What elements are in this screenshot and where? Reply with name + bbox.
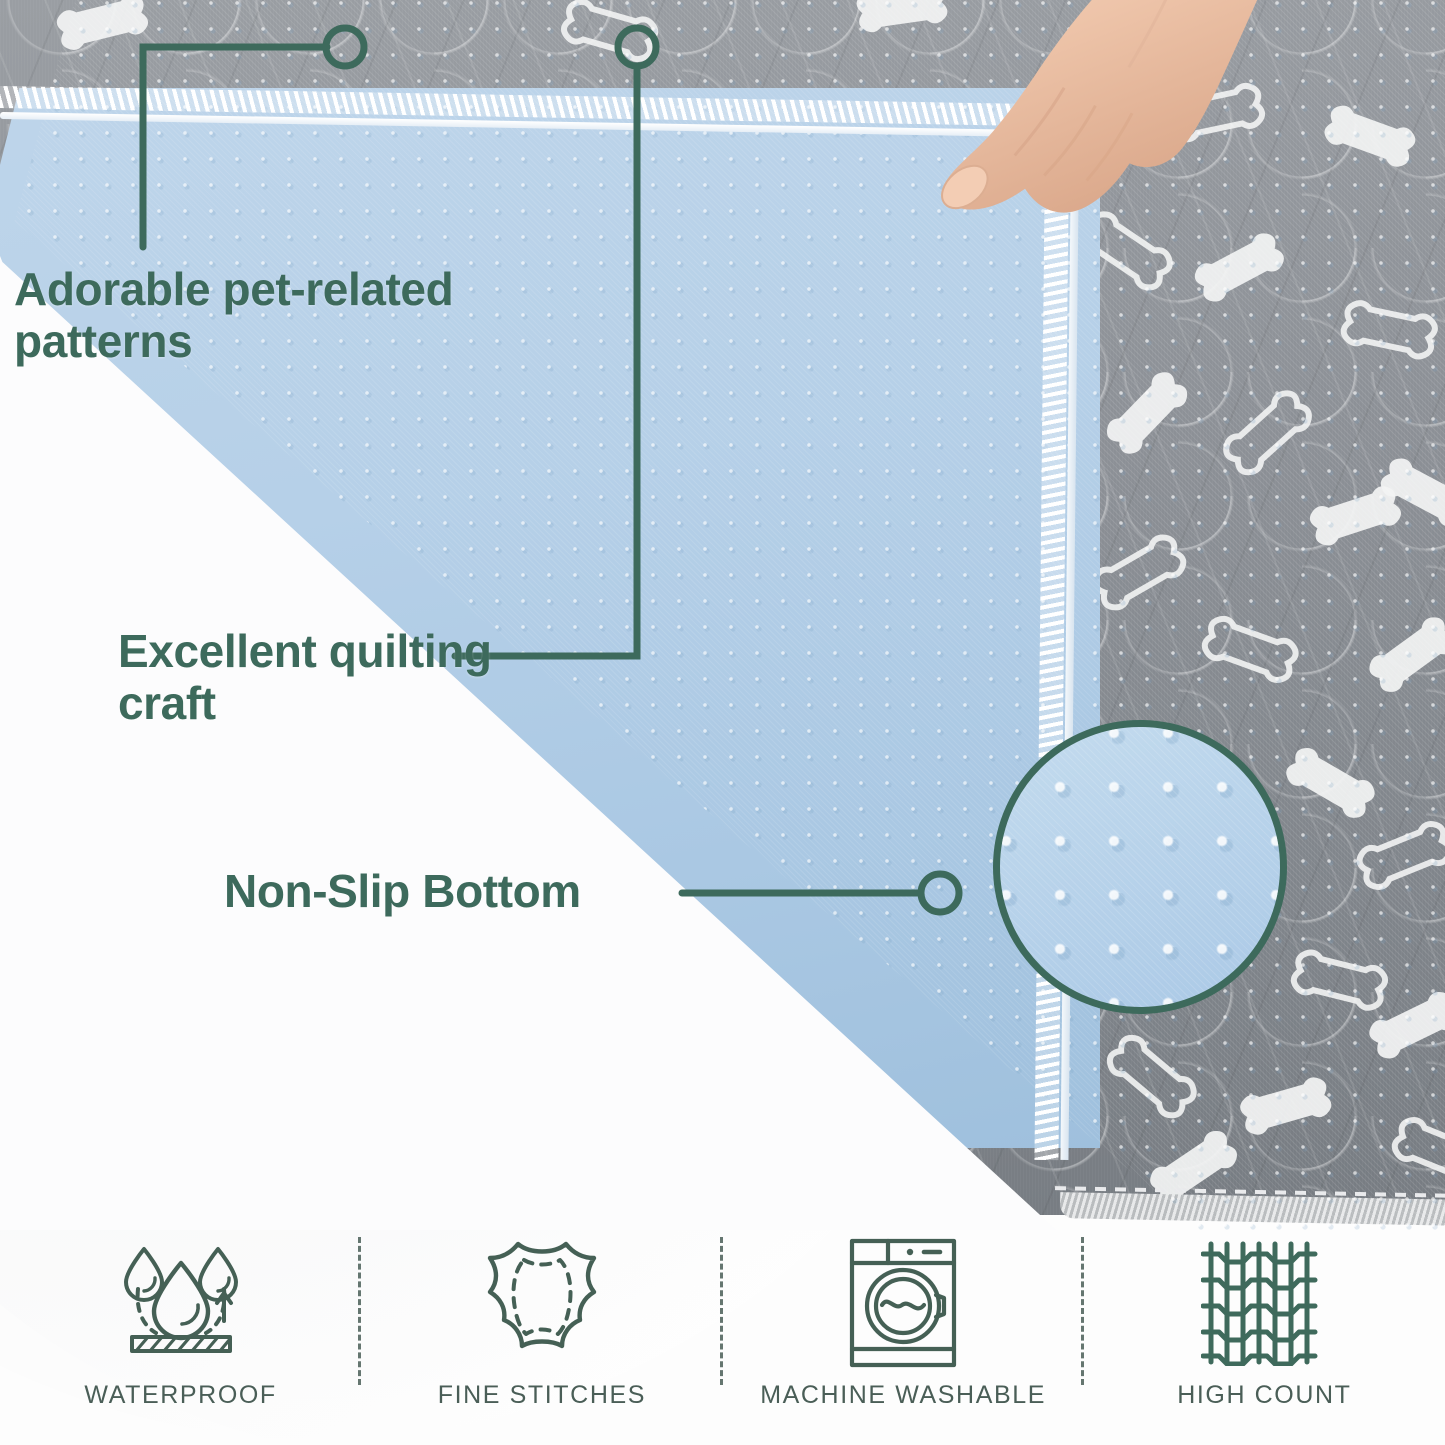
- callout-label-nonslip: Non-Slip Bottom: [224, 866, 694, 918]
- feature-machine-washable: MACHINE WASHABLE: [723, 1215, 1084, 1410]
- non-slip-bottom-magnifier: [993, 720, 1287, 1014]
- feature-fine-stitches: FINE STITCHES: [361, 1215, 722, 1410]
- high-count-icon: [1201, 1233, 1327, 1373]
- infographic-canvas: Adorable pet-related patterns Excellent …: [0, 0, 1445, 1445]
- feature-label-high-count: HIGH COUNT: [1177, 1381, 1351, 1410]
- callout-label-quilting: Excellent quilting craft: [118, 626, 538, 729]
- fine-stitches-icon: [476, 1233, 608, 1373]
- waterproof-icon: [106, 1233, 256, 1373]
- feature-waterproof: WATERPROOF: [0, 1215, 361, 1410]
- feature-label-machine-washable: MACHINE WASHABLE: [760, 1381, 1046, 1410]
- product-photo: [0, 0, 1445, 1230]
- magnifier-weave: [1000, 727, 1280, 1007]
- feature-label-waterproof: WATERPROOF: [84, 1381, 276, 1410]
- feature-strip: WATERPROOF FINE STITCHES: [0, 1215, 1445, 1445]
- hand-lifting-corner: [869, 0, 1311, 264]
- feature-label-fine-stitches: FINE STITCHES: [438, 1381, 646, 1410]
- machine-washable-icon: [844, 1233, 962, 1373]
- callout-label-patterns: Adorable pet-related patterns: [14, 264, 594, 367]
- feature-high-count: HIGH COUNT: [1084, 1215, 1445, 1410]
